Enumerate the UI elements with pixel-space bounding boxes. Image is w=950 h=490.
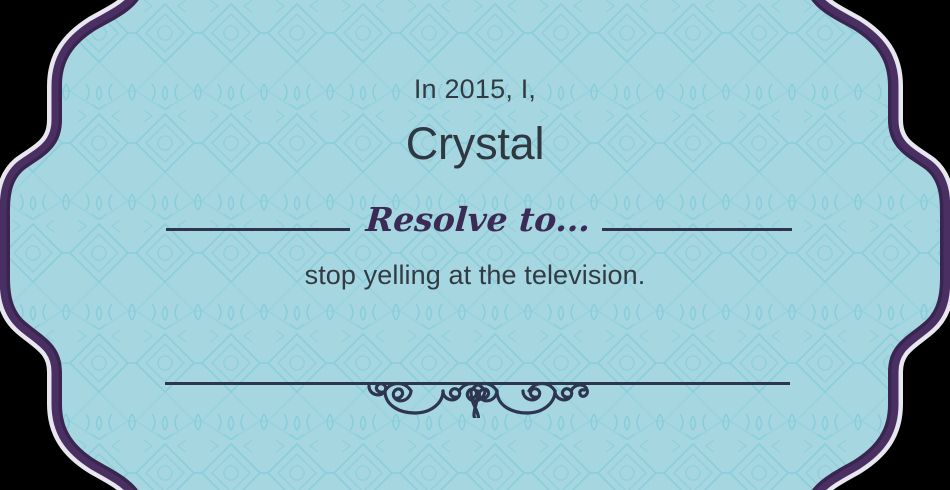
swirl-flourish-icon bbox=[363, 378, 593, 418]
signature-area bbox=[165, 368, 790, 418]
signer-name: Crystal bbox=[40, 120, 910, 167]
intro-line: In 2015, I, bbox=[40, 76, 910, 103]
resolution-card-image: In 2015, I, Crystal Resolve to... stop y… bbox=[0, 0, 950, 490]
resolve-script-text: Resolve to... bbox=[365, 203, 592, 236]
card-content: In 2015, I, Crystal Resolve to... stop y… bbox=[0, 0, 950, 490]
resolve-rule-right bbox=[602, 228, 792, 231]
resolve-rule-left bbox=[166, 228, 350, 231]
resolve-row: Resolve to... bbox=[168, 192, 790, 238]
resolution-text: stop yelling at the television. bbox=[40, 262, 910, 289]
